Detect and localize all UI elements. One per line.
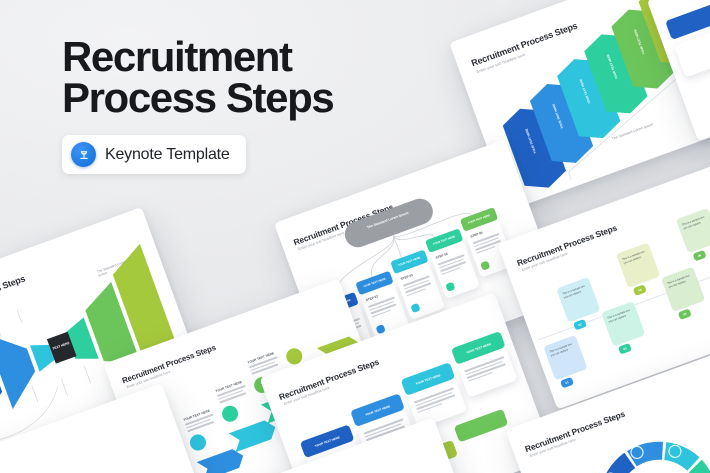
page-title: Recruitment Process Steps [62,36,333,118]
grid-chip-7[interactable] [454,409,509,443]
tree-root [341,195,436,251]
keynote-template-badge[interactable]: Keynote Template [62,135,246,174]
ribbon-icon-circle-3 [220,403,241,424]
headline-block: Recruitment Process Steps Keynote Templa… [62,36,333,174]
badge-label: Keynote Template [105,146,230,164]
ribbon-3 [229,418,279,453]
keynote-podium-icon [71,142,96,167]
ribbon-icon-circle-2 [188,432,209,453]
title-line-2: Process Steps [62,77,333,118]
title-line-1: Recruitment [62,33,292,80]
